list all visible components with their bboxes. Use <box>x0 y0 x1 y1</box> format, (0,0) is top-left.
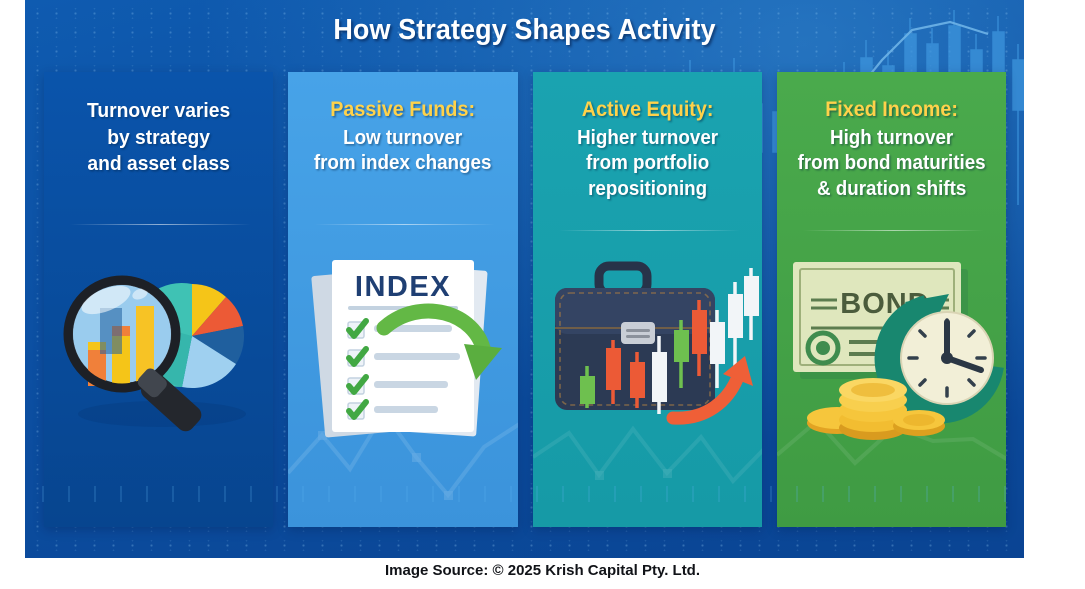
panel-text-block: Active Equity: Higher turnover from port… <box>533 72 762 203</box>
infographic-stage: How Strategy Shapes Activity Turnover va… <box>25 0 1024 558</box>
panel-heading: Passive Funds: <box>305 98 502 123</box>
image-source-caption: Image Source: © 2025 Krish Capital Pty. … <box>0 562 1085 579</box>
bond-coins-clock-icon: BOND <box>777 248 1006 448</box>
index-checklist-document-icon: INDEX <box>288 248 517 448</box>
bottom-tick-pattern-icon <box>25 476 1024 536</box>
panel-body: Higher turnover from portfolio repositio… <box>549 126 746 203</box>
page-title: How Strategy Shapes Activity <box>60 14 989 47</box>
panel-divider <box>559 230 740 231</box>
infographic-screen: How Strategy Shapes Activity Turnover va… <box>0 0 1085 589</box>
panel-text-block: Turnover varies by strategy and asset cl… <box>44 72 273 178</box>
panel-turnover-overview[interactable]: Turnover varies by strategy and asset cl… <box>44 72 273 527</box>
panel-text-block: Fixed Income: High turnover from bond ma… <box>777 72 1006 203</box>
panel-heading: Active Equity: <box>549 98 746 123</box>
briefcase-candlestick-icon <box>533 248 762 448</box>
panel-text-block: Passive Funds: Low turnover from index c… <box>288 72 517 177</box>
panel-body: High turnover from bond maturities & dur… <box>793 126 990 203</box>
panel-heading: Fixed Income: <box>793 98 990 123</box>
panel-passive-funds[interactable]: Passive Funds: Low turnover from index c… <box>288 72 517 527</box>
panel-divider <box>803 230 984 231</box>
panel-body: Low turnover from index changes <box>305 126 502 177</box>
panel-row: Turnover varies by strategy and asset cl… <box>44 72 1006 527</box>
panel-fixed-income[interactable]: Fixed Income: High turnover from bond ma… <box>777 72 1006 527</box>
svg-text:INDEX: INDEX <box>355 271 451 303</box>
panel-divider <box>70 224 251 225</box>
panel-active-equity[interactable]: Active Equity: Higher turnover from port… <box>533 72 762 527</box>
panel-divider <box>314 224 495 225</box>
panel-body: Turnover varies by strategy and asset cl… <box>60 98 257 178</box>
magnifier-bar-pie-chart-icon <box>44 248 273 448</box>
